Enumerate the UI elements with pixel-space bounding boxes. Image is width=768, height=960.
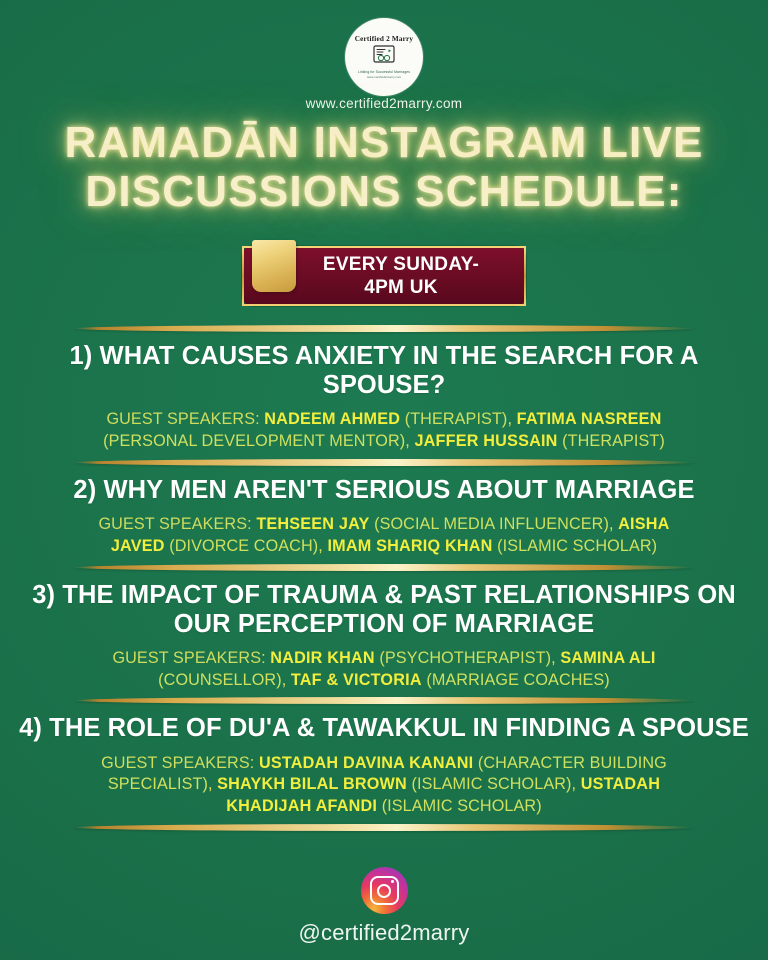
section-divider [74,459,694,466]
schedule-item: 4) THE ROLE OF DU'A & TAWAKKUL IN FINDIN… [0,704,768,824]
schedule-item: 3) THE IMPACT OF TRAUMA & PAST RELATIONS… [0,571,768,698]
schedule-item-heading: 1) WHAT CAUSES ANXIETY IN THE SEARCH FOR… [0,342,768,400]
speaker-name: NADIR KHAN [270,649,375,667]
page-title-line-1: RAMADĀN INSTAGRAM LIVE [0,118,768,167]
instagram-icon[interactable] [361,867,408,914]
speakers-label: GUEST SPEAKERS: [112,649,265,667]
speaker-role: (SOCIAL MEDIA INFLUENCER) [374,515,609,533]
logo-tagline: Linking for Successful Marriages [358,70,410,74]
badge-text: EVERY SUNDAY- 4PM UK [323,253,479,299]
schedule-badge-row: EVERY SUNDAY- 4PM UK [0,246,768,306]
section-divider [74,824,694,831]
badge-line-2: 4PM UK [323,276,479,299]
brand-logo: Certified 2 Marry Linking for Successful… [345,18,423,96]
certificate-icon [373,45,395,68]
speaker-name: NADEEM AHMED [264,410,400,428]
speaker-role: (ISLAMIC SCHOLAR) [412,775,572,793]
schedule-badge: EVERY SUNDAY- 4PM UK [242,246,526,306]
section-divider [74,325,694,332]
speaker-role: (PERSONAL DEVELOPMENT MENTOR) [103,432,405,450]
schedule-item-heading: 2) WHY MEN AREN'T SERIOUS ABOUT MARRIAGE [0,476,768,505]
logo-container: Certified 2 Marry Linking for Successful… [0,18,768,96]
schedule-item-speakers: GUEST SPEAKERS: TEHSEEN JAY (SOCIAL MEDI… [0,514,768,558]
speaker-name: TAF & VICTORIA [291,671,422,689]
speaker-name: SHAYKH BILAL BROWN [217,775,407,793]
schedule-item: 2) WHY MEN AREN'T SERIOUS ABOUT MARRIAGE… [0,466,768,564]
speaker-role: (THERAPIST) [405,410,508,428]
speaker-name: SAMINA ALI [560,649,655,667]
schedule-item-speakers: GUEST SPEAKERS: NADIR KHAN (PSYCHOTHERAP… [0,648,768,692]
speaker-role: (COUNSELLOR) [158,671,282,689]
schedule-list: 1) WHAT CAUSES ANXIETY IN THE SEARCH FOR… [0,325,768,831]
speakers-label: GUEST SPEAKERS: [98,515,251,533]
speaker-name: USTADAH DAVINA KANANI [259,754,473,772]
speaker-role: (ISLAMIC SCHOLAR) [382,797,542,815]
section-divider [74,697,694,704]
schedule-item-heading: 4) THE ROLE OF DU'A & TAWAKKUL IN FINDIN… [0,714,768,743]
speaker-role: (DIVORCE COACH) [169,537,318,555]
schedule-item: 1) WHAT CAUSES ANXIETY IN THE SEARCH FOR… [0,332,768,459]
poster-canvas: Certified 2 Marry Linking for Successful… [0,0,768,960]
speaker-name: FATIMA NASREEN [517,410,662,428]
section-divider [74,564,694,571]
page-title: RAMADĀN INSTAGRAM LIVE DISCUSSIONS SCHED… [0,118,768,217]
speaker-role: (ISLAMIC SCHOLAR) [497,537,657,555]
instagram-glyph [370,876,399,905]
logo-title: Certified 2 Marry [355,35,413,43]
logo-url: www.certified2marry.com [367,75,401,79]
speaker-name: JAFFER HUSSAIN [414,432,557,450]
speakers-label: GUEST SPEAKERS: [101,754,254,772]
schedule-item-speakers: GUEST SPEAKERS: NADEEM AHMED (THERAPIST)… [0,409,768,453]
speakers-label: GUEST SPEAKERS: [106,410,259,428]
footer: @certified2marry [0,867,768,946]
speaker-name: TEHSEEN JAY [256,515,369,533]
instagram-handle: @certified2marry [0,920,768,946]
speaker-role: (PSYCHOTHERAPIST) [379,649,551,667]
schedule-item-heading: 3) THE IMPACT OF TRAUMA & PAST RELATIONS… [0,581,768,639]
page-title-line-2: DISCUSSIONS SCHEDULE: [0,167,768,216]
badge-gold-tab [252,240,296,292]
site-url: www.certified2marry.com [0,96,768,111]
speaker-name: IMAM SHARIQ KHAN [327,537,492,555]
speaker-role: (THERAPIST) [562,432,665,450]
speaker-role: (MARRIAGE COACHES) [426,671,609,689]
badge-line-1: EVERY SUNDAY- [323,253,479,276]
schedule-item-speakers: GUEST SPEAKERS: USTADAH DAVINA KANANI (C… [0,753,768,819]
